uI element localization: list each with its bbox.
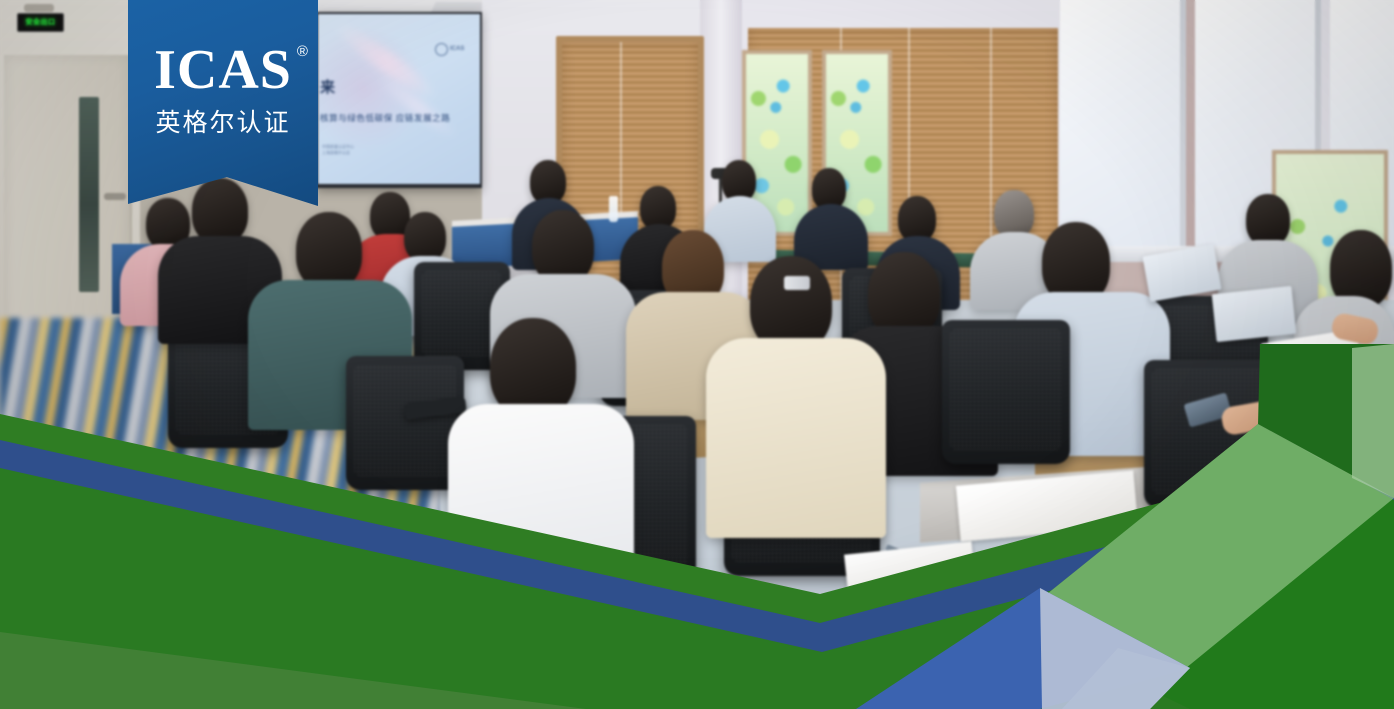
slide-logo-text: ICAS xyxy=(450,46,464,52)
slide-light-streak-1 xyxy=(333,19,440,105)
office-chair xyxy=(346,356,464,490)
attendee-head-foreground xyxy=(490,318,576,418)
window-mullion-1 xyxy=(1180,0,1186,250)
attendee-head xyxy=(192,178,248,244)
door-handle xyxy=(104,193,126,200)
icas-logo-badge: ICAS® 英格尔认证 xyxy=(128,0,318,206)
water-bottle-1 xyxy=(609,196,618,222)
attendee-torso-foreground xyxy=(448,404,634,584)
icas-wordmark-text: ICAS xyxy=(154,39,292,101)
slide-fine-print: 中国质量认证中心 上海英格尔认证 xyxy=(322,144,354,156)
attendee-head xyxy=(994,190,1034,238)
exit-sign-label: 安全出口 xyxy=(26,19,56,26)
registered-trademark-icon: ® xyxy=(297,44,309,59)
hair-clip-icon xyxy=(784,276,810,290)
window-right-1 xyxy=(1060,0,1180,250)
attendee-head xyxy=(404,212,446,262)
laptop-device xyxy=(1212,286,1297,342)
slide-title: 来 xyxy=(320,76,336,97)
door-vision-panel xyxy=(79,97,99,292)
icas-wordmark: ICAS® xyxy=(154,42,292,98)
office-chair xyxy=(1144,360,1272,508)
slide-subtitle: 核算与绿色低碳保 应链发展之路 xyxy=(320,112,450,124)
projection-screen: ICAS 来 核算与绿色低碳保 应链发展之路 中国质量认证中心 上海英格尔认证 xyxy=(318,14,480,184)
slide-brand-mark: ICAS xyxy=(435,42,473,56)
attendee-torso-foreground xyxy=(706,338,886,538)
banner-image: 安全出口 ICAS 来 核算与绿色低碳保 应链发展之路 中国质量认证中心 上海英… xyxy=(0,0,1394,709)
office-chair xyxy=(942,320,1070,464)
exit-sign: 安全出口 xyxy=(17,13,64,32)
attendee-head xyxy=(1246,194,1290,246)
slide-logo-ring-icon xyxy=(435,43,448,56)
attendee-head xyxy=(532,210,594,284)
exit-sign-mount xyxy=(24,4,54,12)
icas-chinese-name: 英格尔认证 xyxy=(155,103,290,139)
attendee-head-foreground xyxy=(296,212,362,290)
